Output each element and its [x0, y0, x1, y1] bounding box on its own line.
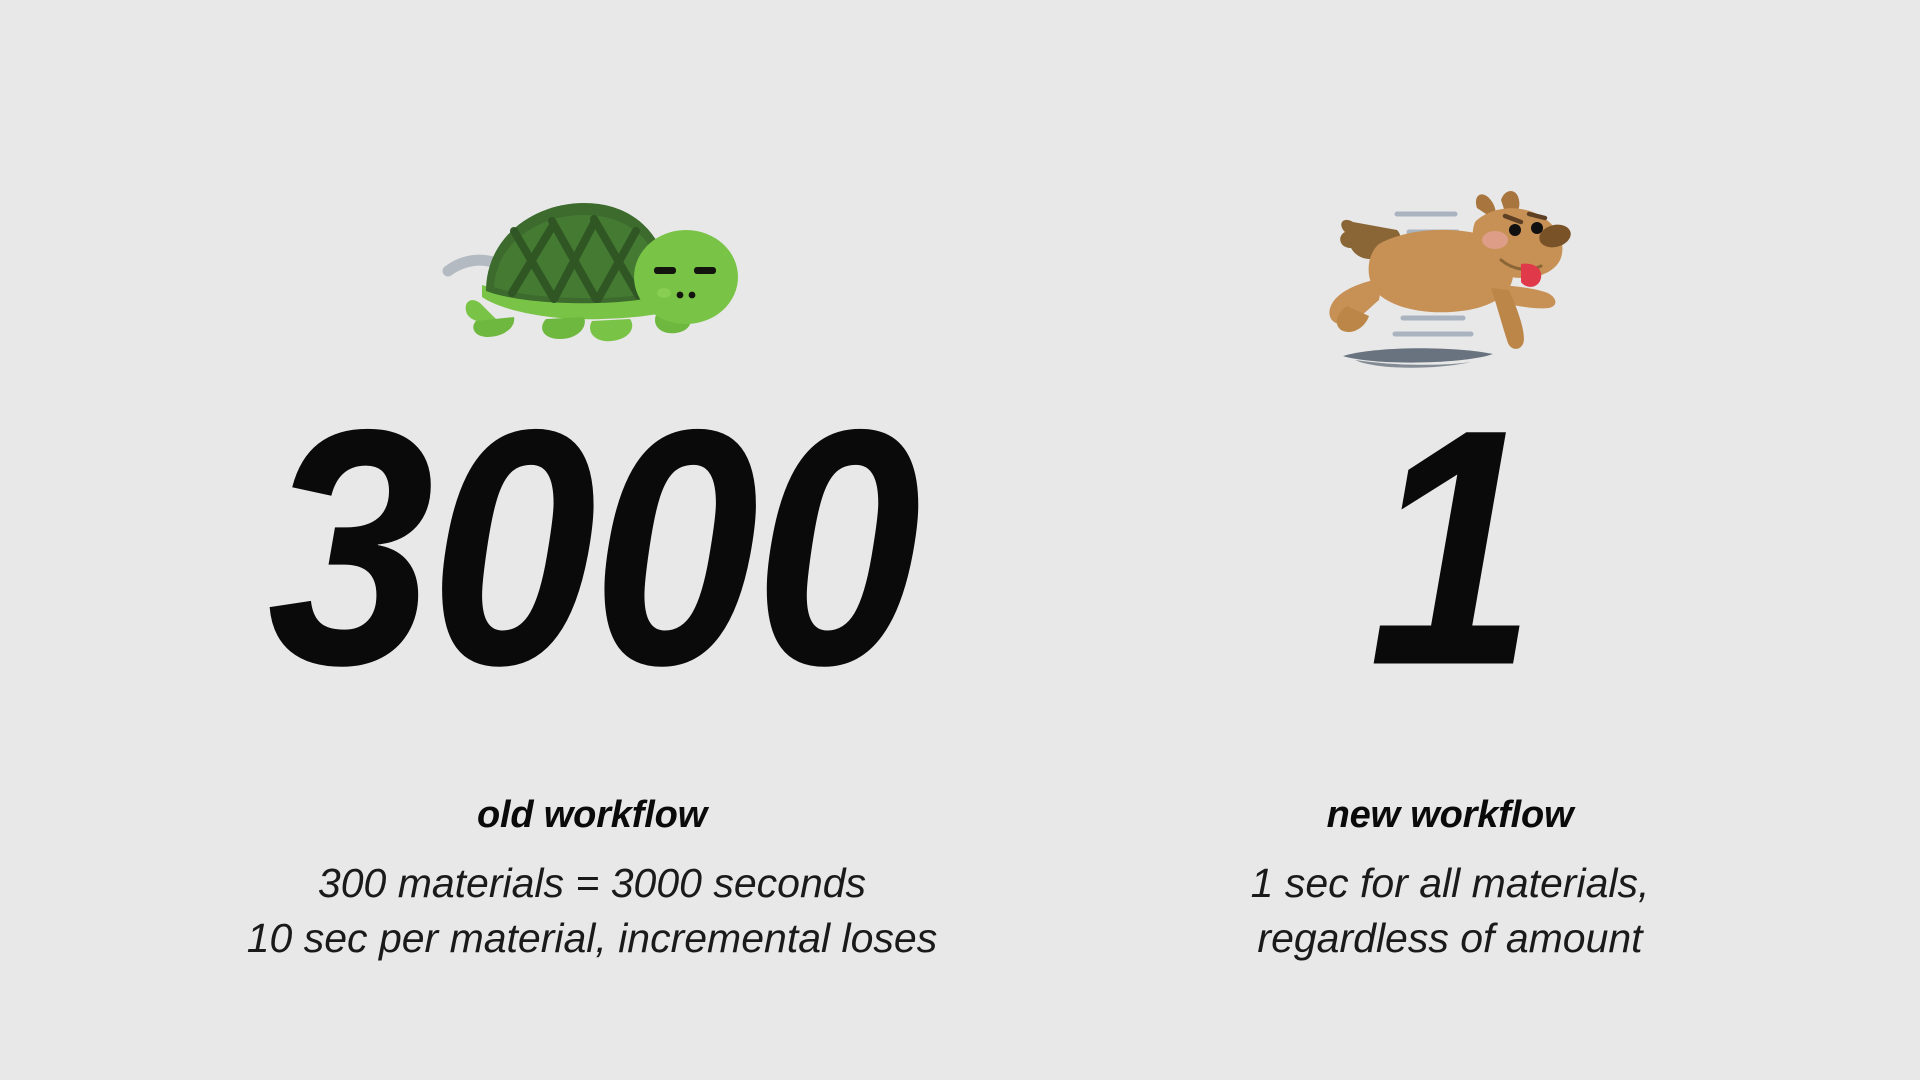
description-line: 1 sec for all materials, — [1251, 856, 1650, 911]
description-new: 1 sec for all materials, regardless of a… — [1251, 856, 1650, 967]
metric-value-new: 1 — [1369, 416, 1531, 678]
comparison-column-old: 3000 old workflow 300 materials = 3000 s… — [192, 0, 992, 1080]
workflow-label-old: old workflow — [477, 796, 707, 834]
description-line: 10 sec per material, incremental loses — [247, 911, 937, 966]
comparison-slide: 3000 old workflow 300 materials = 3000 s… — [0, 0, 1920, 1080]
description-line: regardless of amount — [1251, 911, 1650, 966]
description-line: 300 materials = 3000 seconds — [247, 856, 937, 911]
workflow-label-new: new workflow — [1327, 796, 1574, 834]
comparison-column-new: 1 new workflow 1 sec for all materials, … — [1180, 0, 1720, 1080]
turtle-icon — [442, 175, 742, 375]
running-dog-icon — [1315, 178, 1585, 373]
metric-value-old: 3000 — [267, 416, 916, 678]
description-old: 300 materials = 3000 seconds 10 sec per … — [247, 856, 937, 967]
